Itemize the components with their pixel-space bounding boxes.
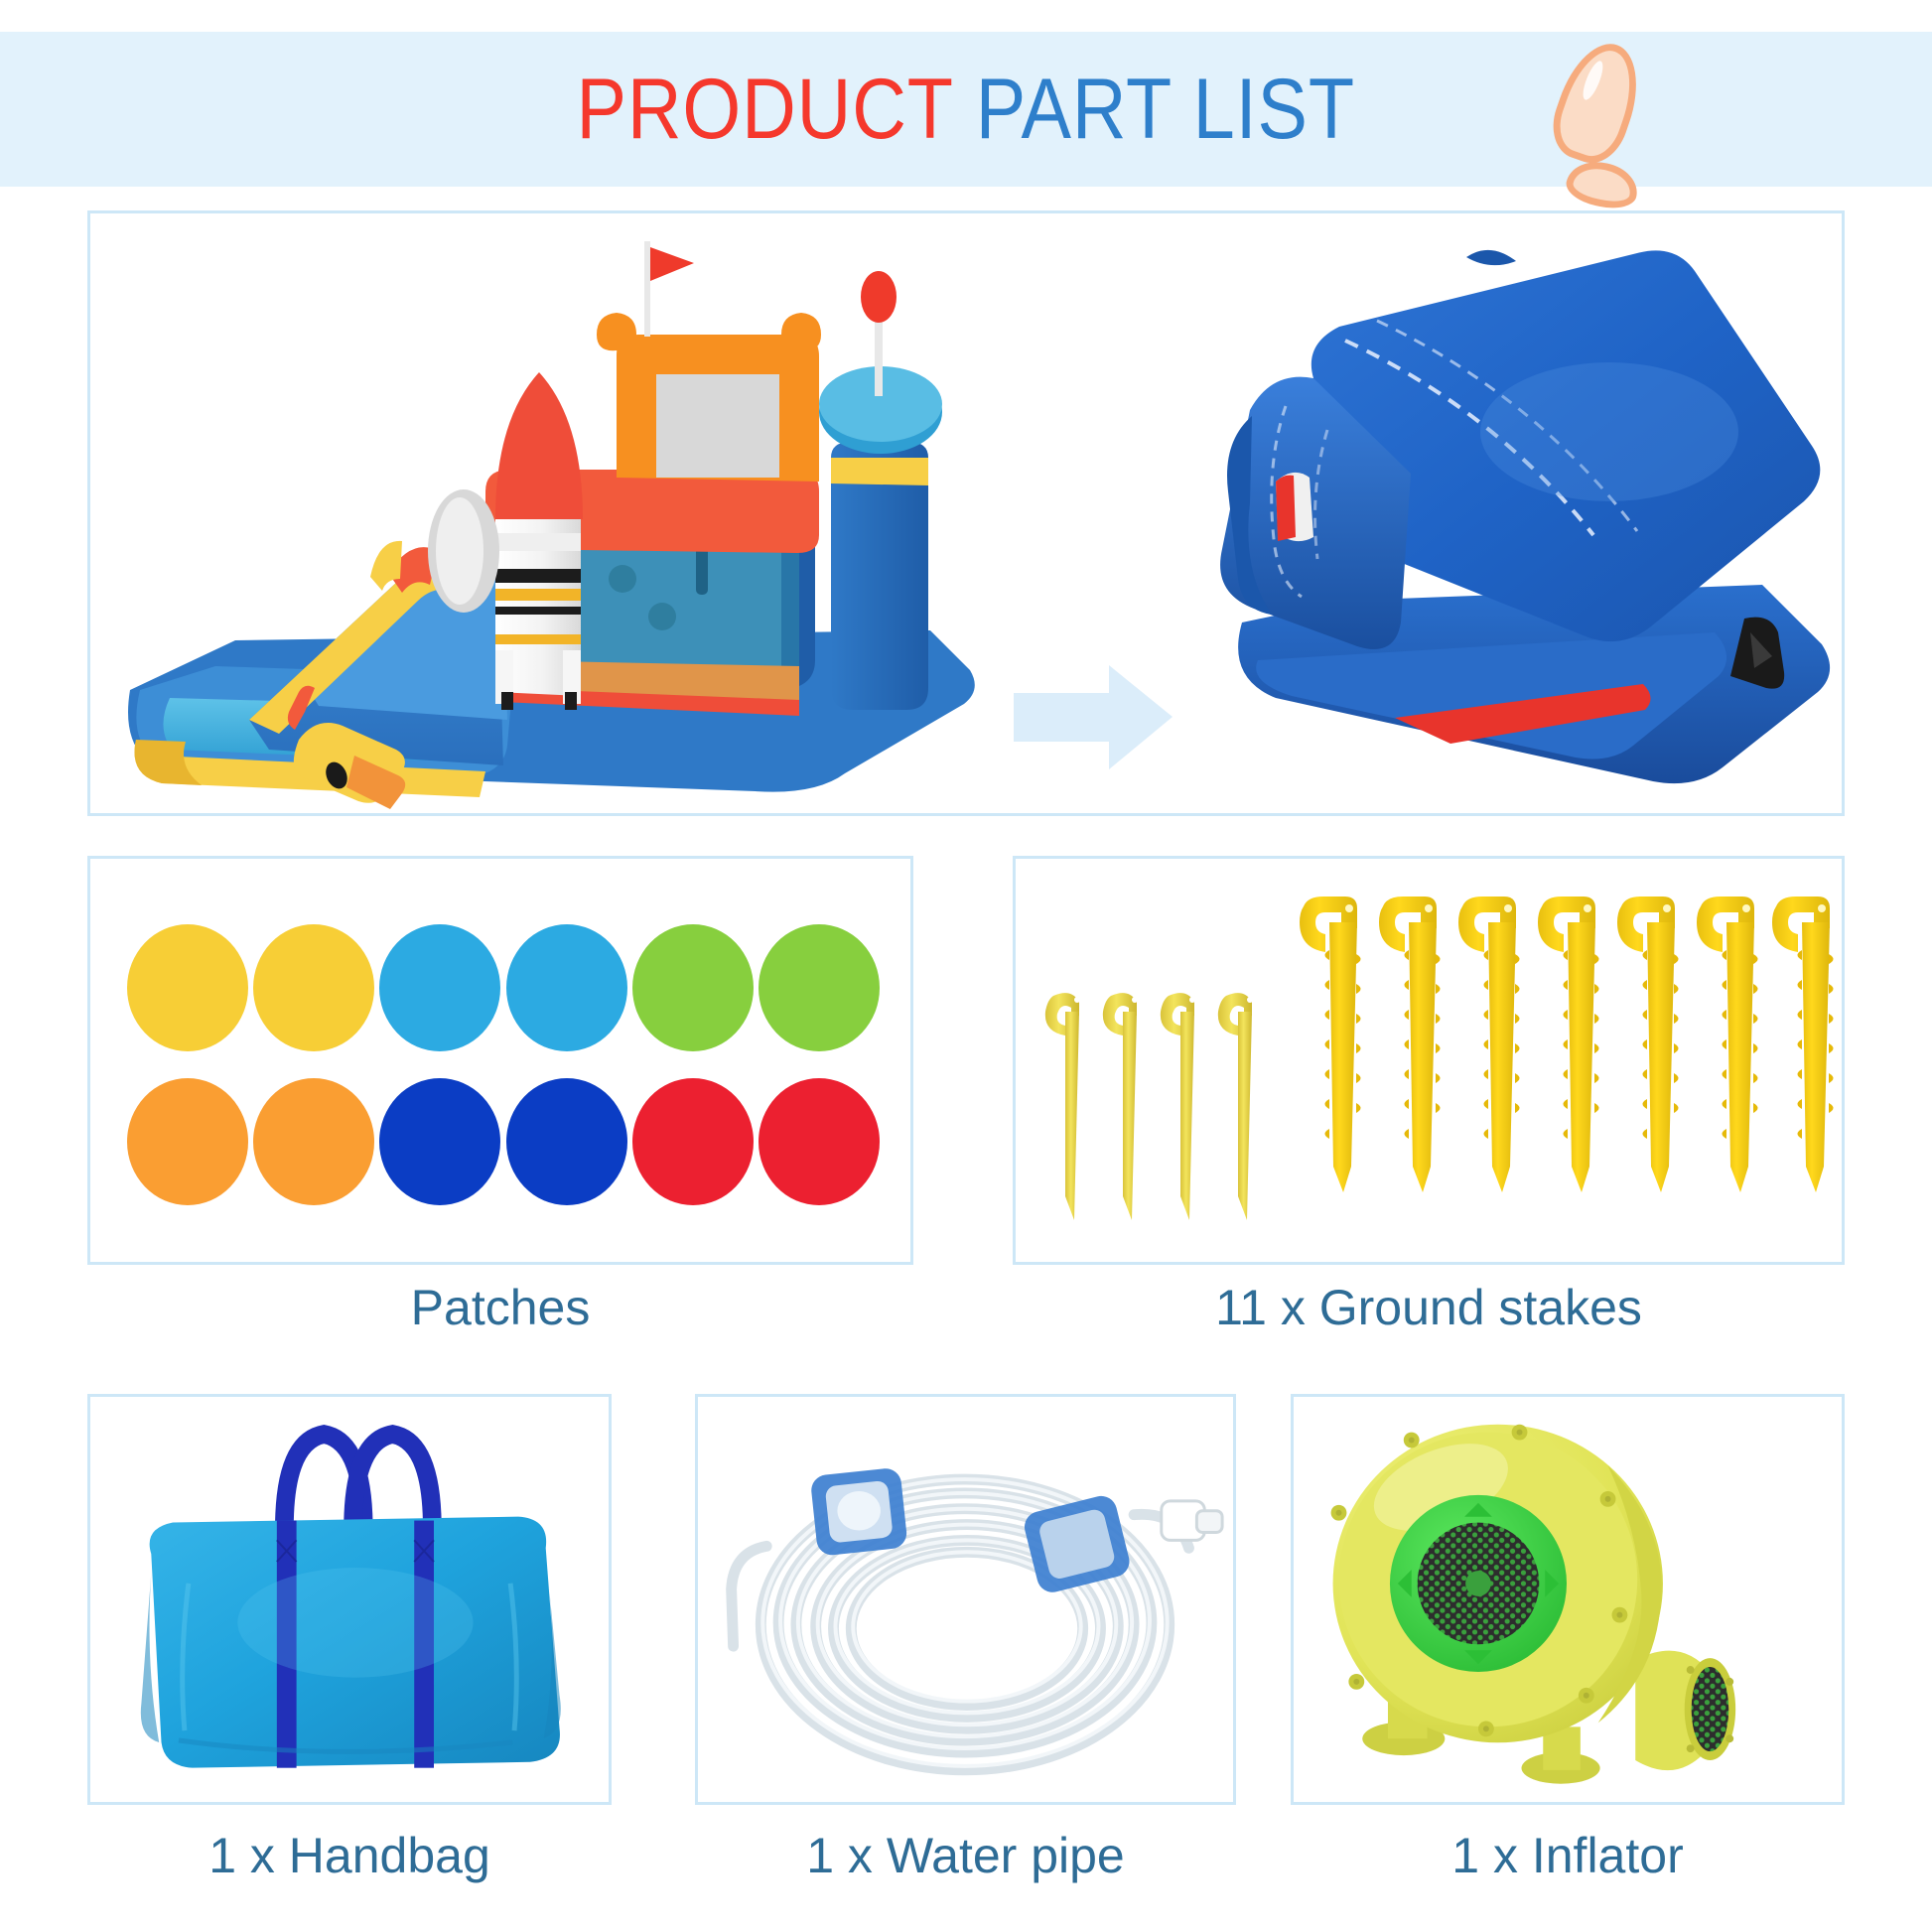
patch-swatch [506, 924, 627, 1051]
pipe-connector-icon [1162, 1501, 1222, 1541]
water-pipe-caption: 1 x Water pipe [695, 1831, 1236, 1880]
page-title-blue: PART LIST [976, 62, 1355, 157]
handbag-panel [87, 1394, 612, 1805]
patch-swatch [379, 1078, 500, 1205]
patch-swatch [379, 924, 500, 1051]
ground-stake-small [1045, 993, 1080, 1220]
patch-swatch [632, 924, 754, 1051]
ground-stake-large [1300, 897, 1361, 1192]
page-title: PRODUCT PART LIST [577, 67, 1356, 152]
patches-grid [124, 910, 883, 1218]
patches-caption: Patches [87, 1283, 913, 1332]
ground-stake-large [1379, 897, 1441, 1192]
ground-stake-small [1103, 993, 1138, 1220]
ground-stake-large [1772, 897, 1834, 1192]
ground-stake-large [1697, 897, 1758, 1192]
patch-swatch [127, 1078, 248, 1205]
patch-swatch [127, 924, 248, 1051]
water-pipe-image [698, 1397, 1233, 1802]
main-product-panel [87, 210, 1845, 816]
exclamation-drop-icon [1543, 33, 1652, 171]
ground-stakes-caption: 11 x Ground stakes [1013, 1283, 1845, 1332]
inflator-image [1294, 1397, 1842, 1802]
handbag-image [90, 1397, 609, 1802]
patches-panel [87, 856, 913, 1265]
patch-swatch [759, 1078, 880, 1205]
inflator-panel [1291, 1394, 1845, 1805]
patch-swatch [759, 924, 880, 1051]
ground-stake-small [1161, 993, 1195, 1220]
exclamation-dot-icon [1563, 156, 1642, 213]
inflator-caption: 1 x Inflator [1291, 1831, 1845, 1880]
ground-stake-large [1617, 897, 1679, 1192]
water-pipe-panel [695, 1394, 1236, 1805]
product-part-list-page: PRODUCT PART LIST [0, 0, 1932, 1932]
patch-swatch [632, 1078, 754, 1205]
patch-swatch [253, 924, 374, 1051]
ground-stake-small [1218, 993, 1253, 1220]
ground-stakes-group [1016, 859, 1848, 1262]
pipe-clip-valve [810, 1467, 908, 1557]
folded-product-image [1182, 233, 1838, 799]
handbag-caption: 1 x Handbag [87, 1831, 612, 1880]
patch-swatch [506, 1078, 627, 1205]
ground-stake-large [1538, 897, 1599, 1192]
ground-stake-large [1458, 897, 1520, 1192]
ground-stakes-panel [1013, 856, 1845, 1265]
transform-arrow-icon [1014, 665, 1173, 769]
exclamation-mark-icon [1545, 42, 1674, 191]
patch-swatch [253, 1078, 374, 1205]
page-title-red: PRODUCT [577, 62, 954, 157]
bounce-house-image [100, 223, 994, 809]
